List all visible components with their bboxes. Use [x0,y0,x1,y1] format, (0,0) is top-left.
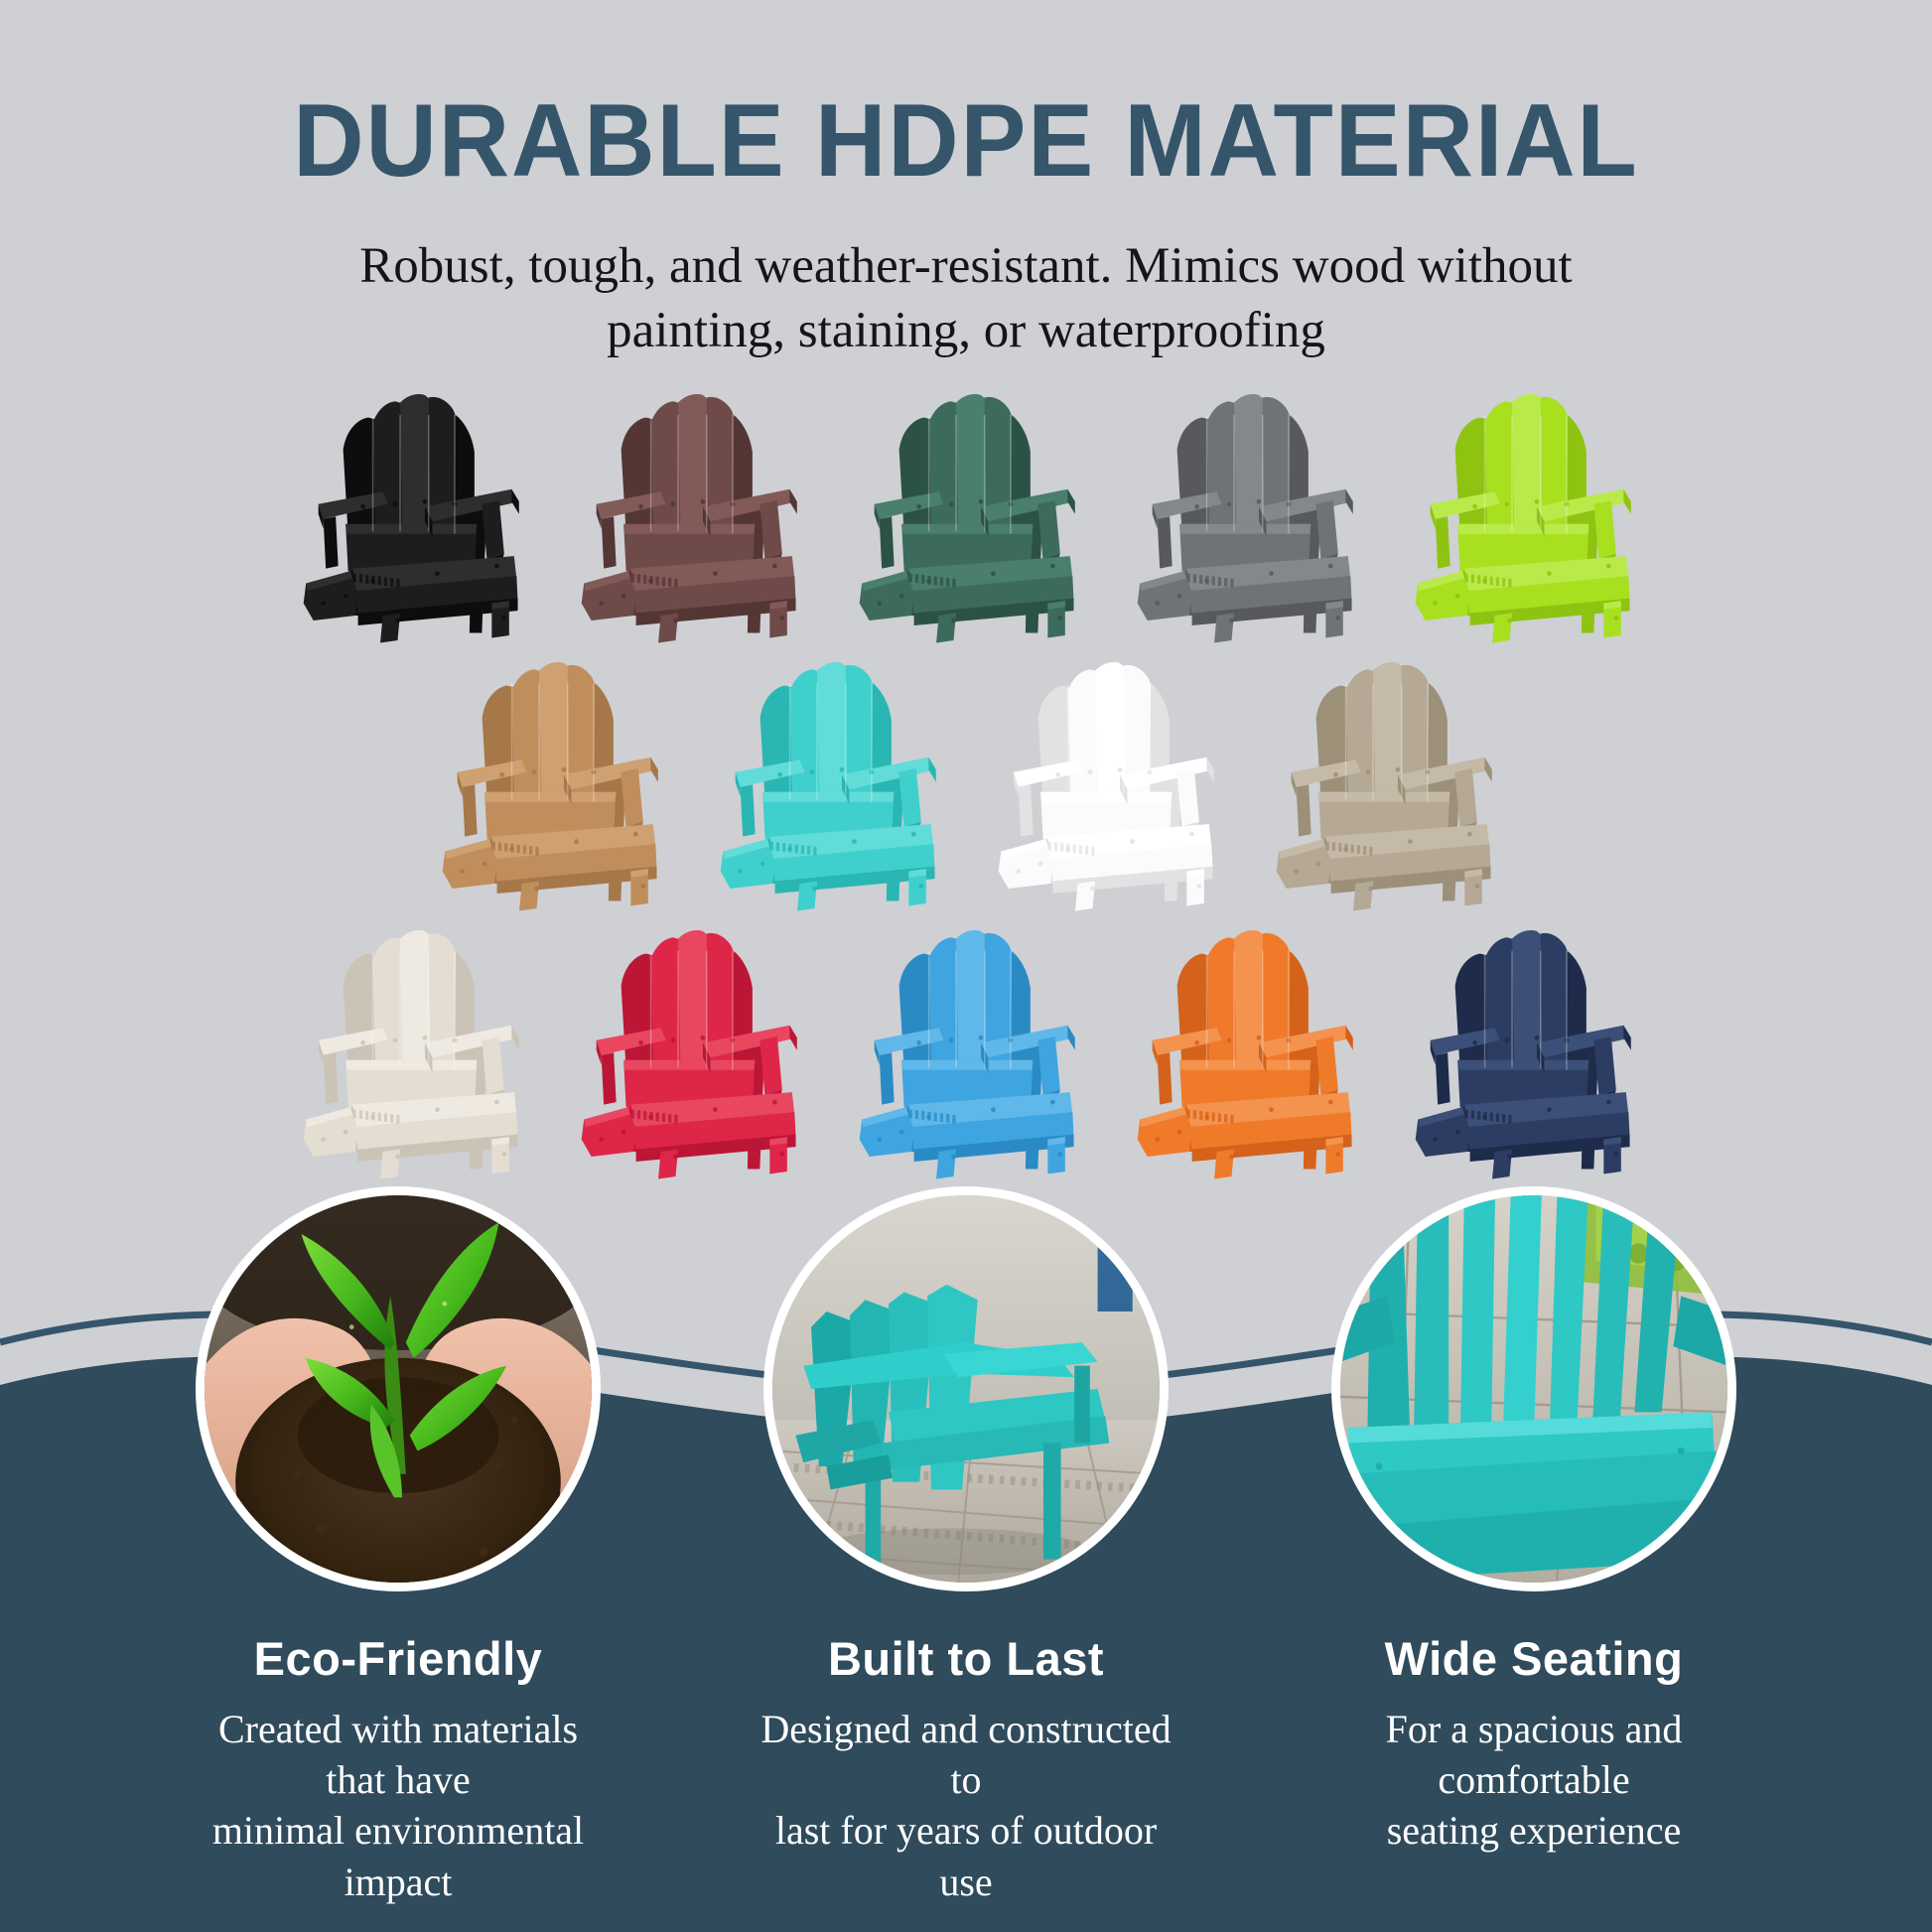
feature-desc-line-1: For a spacious and comfortable [1325,1704,1742,1805]
feature-description: For a spacious and comfortable seating e… [1325,1704,1742,1857]
patio-chair-illustration [772,1195,1160,1583]
adirondack-chair-white [980,653,1230,913]
feature-row: Eco-Friendly Created with materials that… [0,1186,1932,1907]
adirondack-chair-brown [563,385,813,645]
feature-desc-line-1: Designed and constructed to [758,1704,1174,1805]
adirondack-chair-orange [1119,921,1369,1181]
adirondack-chair-khaki [1258,653,1508,913]
chair-swatch-red[interactable] [549,905,827,1181]
adirondack-chair-red [563,921,813,1181]
chair-swatch-light-blue[interactable] [827,905,1105,1181]
chair-row-1 [0,369,1932,645]
hands-holding-seedling-photo [196,1186,601,1591]
feature-title: Eco-Friendly [254,1631,543,1686]
chair-swatch-dark-green[interactable] [827,369,1105,645]
feature-wide-seating: Wide Seating For a spacious and comforta… [1325,1186,1742,1907]
chair-swatch-turquoise[interactable] [688,637,966,913]
wide-seat-illustration [1340,1195,1727,1583]
feature-title: Built to Last [828,1631,1104,1686]
feature-description: Created with materials that have minimal… [190,1704,607,1907]
feature-desc-line-2: last for years of outdoor use [758,1805,1174,1906]
feature-desc-line-2: seating experience [1325,1805,1742,1856]
feature-description: Designed and constructed to last for yea… [758,1704,1174,1907]
header: DURABLE HDPE MATERIAL Robust, tough, and… [0,0,1932,364]
subtitle-line-1: Robust, tough, and weather-resistant. Mi… [0,234,1932,299]
chair-swatch-brown[interactable] [549,369,827,645]
chair-row-2 [0,637,1932,913]
chair-swatch-khaki[interactable] [1244,637,1522,913]
feature-title: Wide Seating [1385,1631,1684,1686]
chair-swatch-orange[interactable] [1105,905,1383,1181]
turquoise-chair-wide-seat-photo [1331,1186,1736,1591]
page-title: DURABLE HDPE MATERIAL [49,89,1884,193]
adirondack-chair-ivory [285,921,535,1181]
adirondack-chair-turquoise [702,653,952,913]
chair-swatch-gray[interactable] [1105,369,1383,645]
turquoise-chair-on-patio-photo [763,1186,1169,1591]
adirondack-chair-light-blue [841,921,1091,1181]
chair-swatch-teak[interactable] [410,637,688,913]
feature-built-to-last: Built to Last Designed and constructed t… [758,1186,1174,1907]
feature-section: Eco-Friendly Created with materials that… [0,1186,1932,1907]
subtitle-line-2: painting, staining, or waterproofing [0,299,1932,363]
feature-eco-friendly: Eco-Friendly Created with materials that… [190,1186,607,1907]
adirondack-chair-gray [1119,385,1369,645]
chair-color-grid [0,369,1932,1181]
infographic-canvas: DURABLE HDPE MATERIAL Robust, tough, and… [0,0,1932,1932]
chair-swatch-black[interactable] [271,369,549,645]
seedling-illustration [205,1195,592,1583]
chair-swatch-lime-green[interactable] [1383,369,1661,645]
adirondack-chair-lime-green [1397,385,1647,645]
chair-swatch-navy-blue[interactable] [1383,905,1661,1181]
chair-row-3 [0,905,1932,1181]
adirondack-chair-teak [424,653,674,913]
adirondack-chair-navy-blue [1397,921,1647,1181]
feature-desc-line-1: Created with materials that have [190,1704,607,1805]
page-subtitle: Robust, tough, and weather-resistant. Mi… [0,234,1932,364]
chair-swatch-ivory[interactable] [271,905,549,1181]
adirondack-chair-black [285,385,535,645]
feature-desc-line-2: minimal environmental impact [190,1805,607,1906]
chair-swatch-white[interactable] [966,637,1244,913]
adirondack-chair-dark-green [841,385,1091,645]
